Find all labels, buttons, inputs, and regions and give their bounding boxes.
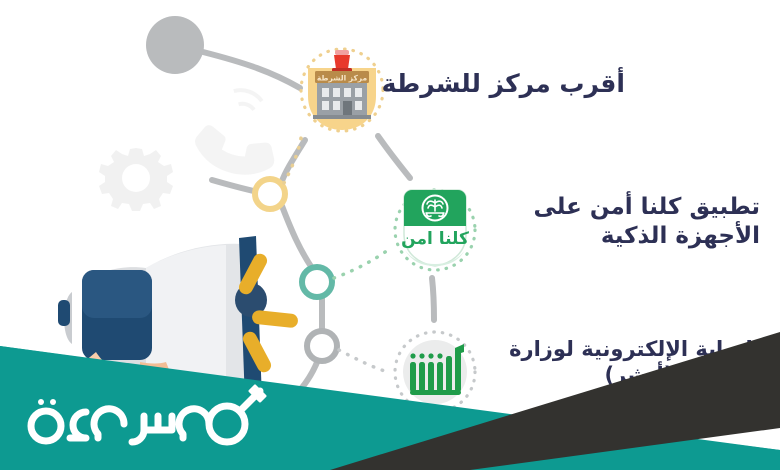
connector-blob-to-police bbox=[203, 52, 300, 88]
infographic-poster: مركز الشرطة bbox=[0, 0, 780, 470]
connector-cream-left bbox=[212, 180, 258, 192]
connector-cream-to-teal bbox=[282, 206, 312, 268]
label-police-station: أقرب مركز للشرطة bbox=[365, 68, 625, 99]
gear-icon bbox=[99, 148, 173, 211]
app-name-text: كلنا امن bbox=[401, 229, 469, 249]
connector-police-to-app bbox=[378, 136, 410, 178]
node-ring-teal bbox=[302, 267, 332, 297]
node-ring-cream bbox=[255, 179, 285, 209]
connector-police-to-cream bbox=[282, 140, 305, 181]
label-kollona-amn-app: تطبيق كلنا أمن على الأجهزة الذكية bbox=[470, 193, 760, 251]
mawsoah-logo bbox=[12, 382, 272, 458]
decor-blob-circle bbox=[146, 16, 204, 74]
kollona-amn-app-icon: كلنا امن bbox=[392, 180, 478, 276]
banner-footnote bbox=[290, 458, 510, 470]
svg-text:مركز الشرطة: مركز الشرطة bbox=[317, 74, 368, 83]
dotted-teal-to-app bbox=[334, 250, 388, 278]
